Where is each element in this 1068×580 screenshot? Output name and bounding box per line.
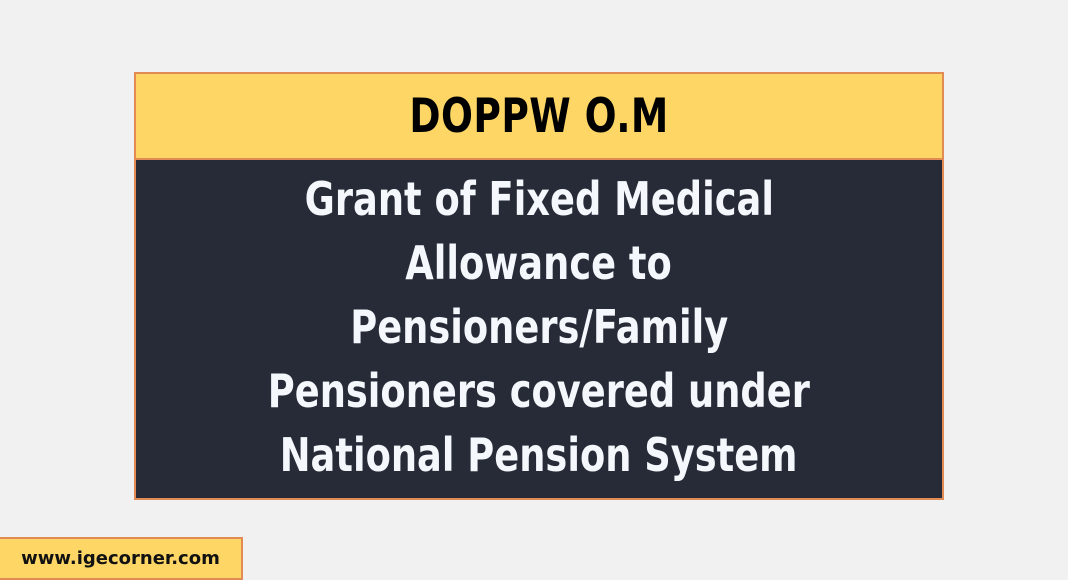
banner-header: DOPPW O.M — [136, 74, 942, 160]
banner-body-line-3: Pensioners/Family — [350, 295, 728, 359]
banner-body-line-1: Grant of Fixed Medical — [304, 167, 773, 231]
banner-header-title: DOPPW O.M — [409, 93, 668, 140]
banner-body: Grant of Fixed Medical Allowance to Pens… — [136, 160, 942, 498]
watermark-url-text: www.igecorner.com — [21, 550, 220, 568]
watermark-badge: www.igecorner.com — [0, 537, 243, 580]
banner-card: DOPPW O.M Grant of Fixed Medical Allowan… — [134, 72, 944, 500]
banner-body-line-4: Pensioners covered under — [268, 359, 810, 423]
banner-body-line-5: National Pension System — [280, 423, 798, 487]
banner-body-line-2: Allowance to — [406, 231, 672, 295]
